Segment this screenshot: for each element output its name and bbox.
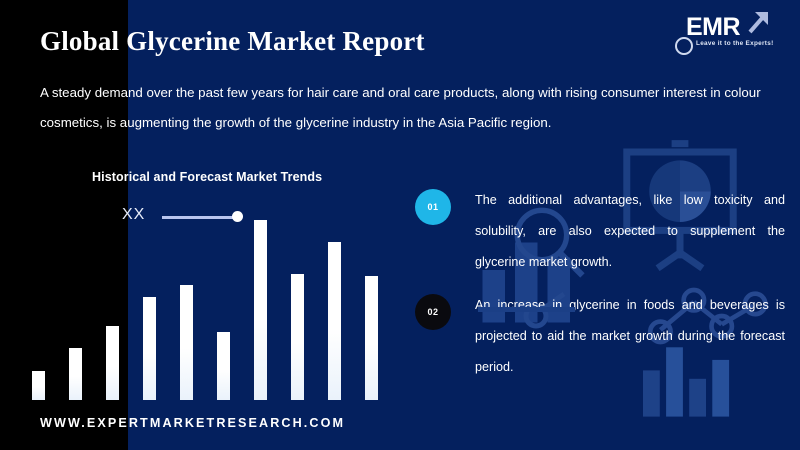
- chart-bar: [69, 348, 82, 400]
- list-item[interactable]: 01 The additional advantages, like low t…: [415, 185, 785, 278]
- slide-canvas: Global Glycerine Market Report A steady …: [0, 0, 800, 450]
- legend-label: XX: [122, 206, 145, 224]
- chart-bar: [291, 274, 304, 400]
- page-title: Global Glycerine Market Report: [40, 26, 425, 57]
- logo-tagline: Leave it to the Experts!: [696, 40, 774, 47]
- point-badge: 02: [415, 294, 451, 330]
- chart-bar: [180, 285, 193, 400]
- point-badge: 01: [415, 189, 451, 225]
- list-item[interactable]: 02 An increase in glycerine in foods and…: [415, 290, 785, 383]
- footer-url[interactable]: WWW.EXPERTMARKETRESEARCH.COM: [40, 416, 345, 430]
- chart-bar: [106, 326, 119, 400]
- market-trend-bar-chart: [0, 180, 420, 400]
- chart-bar: [365, 276, 378, 400]
- key-points-list: 01 The additional advantages, like low t…: [415, 185, 785, 395]
- chart-bar: [143, 297, 156, 400]
- chart-bar: [254, 220, 267, 400]
- points-divider: [478, 307, 575, 312]
- page-subtitle: A steady demand over the past few years …: [40, 78, 768, 138]
- logo-wordmark: EMR: [686, 13, 740, 42]
- point-text: An increase in glycerine in foods and be…: [475, 290, 785, 383]
- chart-heading: Historical and Forecast Market Trends: [92, 170, 322, 184]
- chart-bar: [32, 371, 45, 400]
- point-text: The additional advantages, like low toxi…: [475, 185, 785, 278]
- legend-line: [162, 216, 238, 219]
- chart-bar: [328, 242, 341, 400]
- chart-bar: [217, 332, 230, 400]
- emr-logo[interactable]: EMR Leave it to the Experts!: [672, 8, 782, 56]
- legend-dot: [232, 211, 243, 222]
